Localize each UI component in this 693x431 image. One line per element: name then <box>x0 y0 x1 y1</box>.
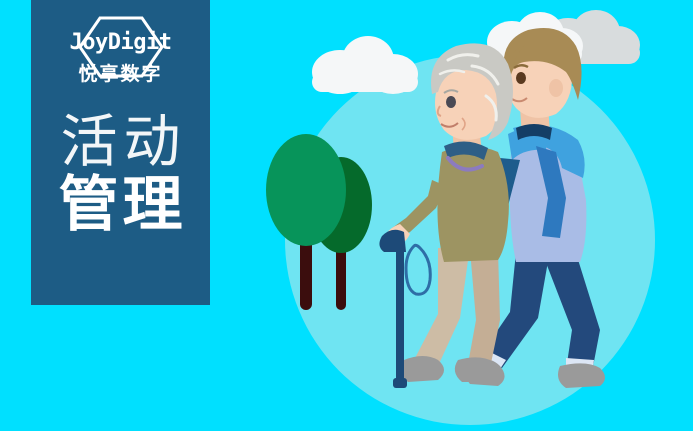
brand-lockup: JoyDigit 悦享数字 <box>51 20 191 82</box>
title-panel: JoyDigit 悦享数字 活动 管理 <box>31 0 210 305</box>
page-title-line-2: 管理 <box>55 174 187 235</box>
page-title: 活动 管理 <box>55 112 187 236</box>
poster-canvas: JoyDigit 悦享数字 活动 管理 <box>0 0 693 431</box>
woman-sweater <box>437 146 508 262</box>
man-ear <box>549 79 563 97</box>
man-eye <box>516 72 526 84</box>
cane-tip <box>393 378 407 388</box>
brand-name-cn: 悦享数字 <box>78 65 162 84</box>
brand-name-en: JoyDigit <box>70 32 172 54</box>
woman-eye <box>446 96 456 108</box>
cane-shaft <box>396 244 404 386</box>
man-back-shoe <box>558 363 605 388</box>
page-title-line-1: 活动 <box>55 112 187 172</box>
woman-front-shoe <box>401 356 444 382</box>
